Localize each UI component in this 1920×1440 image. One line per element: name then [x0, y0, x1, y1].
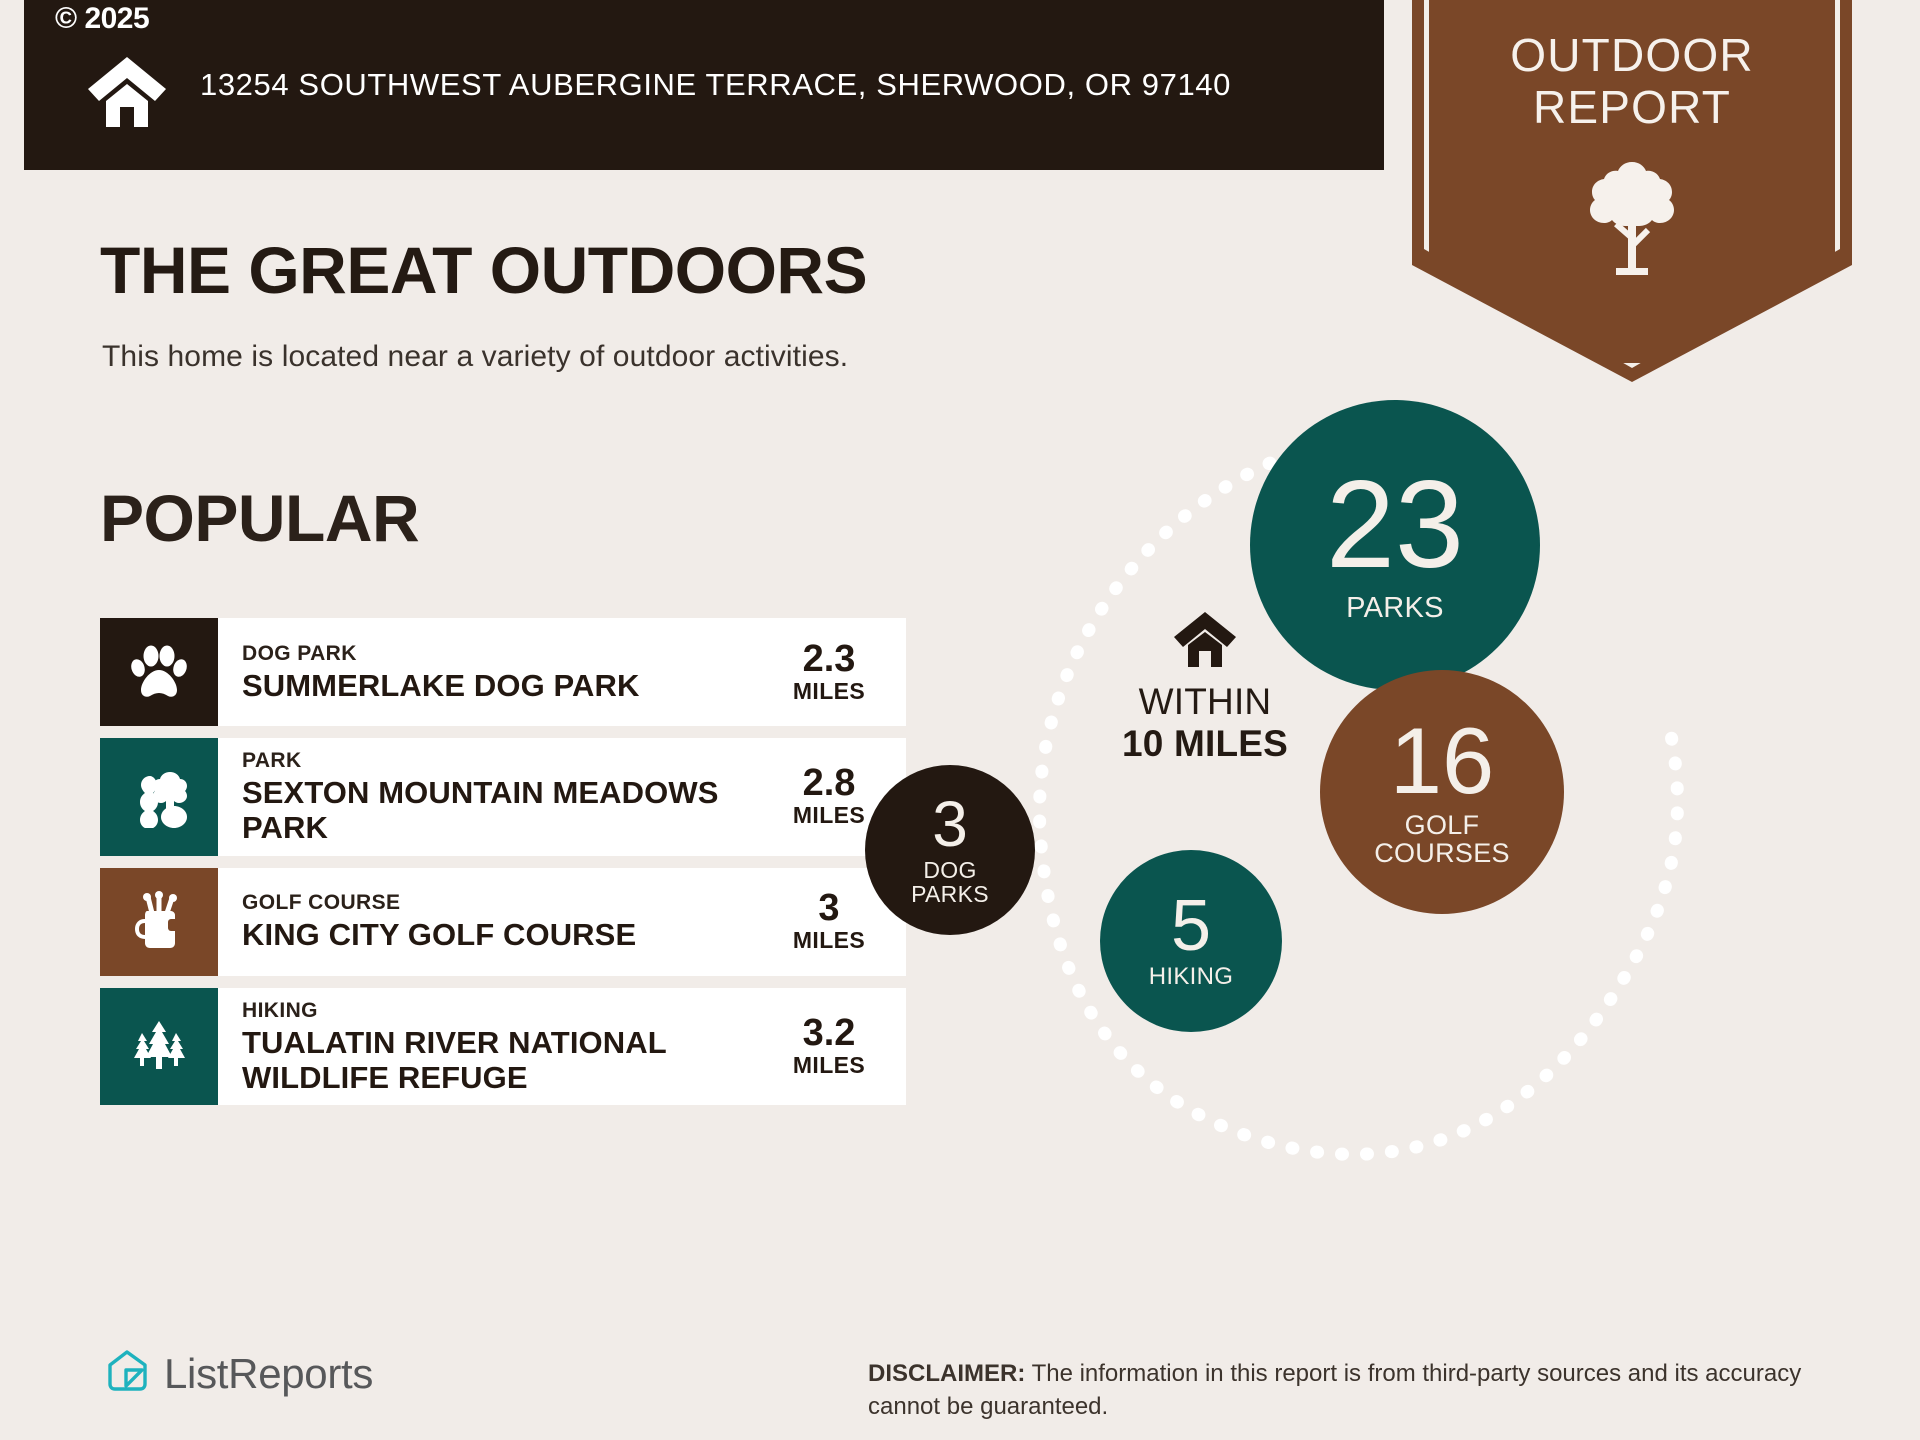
stat-circle-golf-courses[interactable]: 16 GOLF COURSES [1320, 670, 1564, 914]
list-item-body: GOLF COURSE KING CITY GOLF COURSE 3 MILE… [218, 868, 906, 976]
parks-count: 23 [1326, 467, 1464, 585]
list-item[interactable]: PARK SEXTON MOUNTAIN MEADOWS PARK 2.8 MI… [100, 738, 906, 856]
header-bar: 13254 SOUTHWEST AUBERGINE TERRACE, SHERW… [24, 0, 1384, 170]
section-title-popular: POPULAR [100, 480, 419, 556]
distance-value: 2.3 [770, 640, 888, 678]
list-item[interactable]: GOLF COURSE KING CITY GOLF COURSE 3 MILE… [100, 868, 906, 976]
list-item-body: DOG PARK SUMMERLAKE DOG PARK 2.3 MILES [218, 618, 906, 726]
list-item-name: TUALATIN RIVER NATIONAL WILDLIFE REFUGE [242, 1026, 770, 1095]
list-item-text: DOG PARK SUMMERLAKE DOG PARK [242, 641, 770, 704]
badge-title-line1: OUTDOOR [1412, 30, 1852, 82]
center-home-marker: WITHIN 10 MILES [1075, 610, 1335, 766]
list-item-category: PARK [242, 748, 770, 773]
amenities-bubble-chart: 23 PARKS 16 GOLF COURSES 5 HIKING 3 DOG … [1010, 400, 1840, 1270]
golf-label-line1: GOLF [1374, 811, 1510, 840]
list-item-category: GOLF COURSE [242, 890, 770, 915]
paw-icon [100, 618, 218, 726]
outdoor-report-badge: OUTDOOR REPORT [1412, 0, 1852, 382]
list-item[interactable]: HIKING TUALATIN RIVER NATIONAL WILDLIFE … [100, 988, 906, 1106]
distance-unit: MILES [770, 1052, 888, 1079]
pine-trees-icon [100, 988, 218, 1106]
golf-label-line2: COURSES [1374, 839, 1510, 868]
golf-label: GOLF COURSES [1374, 811, 1510, 868]
list-item-text: HIKING TUALATIN RIVER NATIONAL WILDLIFE … [242, 998, 770, 1096]
list-item-distance: 3.2 MILES [770, 1014, 902, 1079]
page-title: THE GREAT OUTDOORS [100, 232, 867, 308]
distance-unit: MILES [770, 927, 888, 954]
copyright-notice: © 2025 [55, 2, 149, 36]
list-item-text: GOLF COURSE KING CITY GOLF COURSE [242, 890, 770, 953]
dogparks-label: DOG PARKS [911, 858, 989, 907]
hiking-label: HIKING [1149, 964, 1233, 989]
list-item-name: SUMMERLAKE DOG PARK [242, 669, 770, 704]
parks-label: PARKS [1346, 593, 1444, 624]
list-item-body: PARK SEXTON MOUNTAIN MEADOWS PARK 2.8 MI… [218, 738, 906, 856]
distance-value: 2.8 [770, 764, 888, 802]
center-label-line1: WITHIN [1075, 681, 1335, 723]
property-address: 13254 SOUTHWEST AUBERGINE TERRACE, SHERW… [200, 63, 1231, 107]
listreports-logo[interactable]: ListReports [104, 1348, 373, 1399]
page-subtitle: This home is located near a variety of o… [102, 340, 848, 374]
badge-title: OUTDOOR REPORT [1412, 30, 1852, 134]
tree-icon [1586, 160, 1678, 276]
dogparks-label-line2: PARKS [911, 882, 989, 906]
hiking-count: 5 [1171, 892, 1211, 960]
disclaimer: DISCLAIMER: The information in this repo… [868, 1358, 1858, 1423]
list-item-name: KING CITY GOLF COURSE [242, 918, 770, 953]
home-icon [84, 53, 170, 131]
popular-list: DOG PARK SUMMERLAKE DOG PARK 2.3 MILES P… [100, 618, 906, 1117]
list-item-name: SEXTON MOUNTAIN MEADOWS PARK [242, 776, 770, 845]
distance-value: 3 [770, 889, 888, 927]
park-tree-path-icon [100, 738, 218, 856]
list-item-distance: 2.3 MILES [770, 640, 902, 705]
list-item-body: HIKING TUALATIN RIVER NATIONAL WILDLIFE … [218, 988, 906, 1106]
dogparks-count: 3 [932, 794, 968, 855]
disclaimer-label: DISCLAIMER: [868, 1360, 1025, 1387]
golf-bag-icon [100, 868, 218, 976]
home-icon [1172, 657, 1238, 674]
stat-circle-dog-parks[interactable]: 3 DOG PARKS [865, 765, 1035, 935]
dogparks-label-line1: DOG [911, 858, 989, 882]
center-label-line2: 10 MILES [1075, 723, 1335, 766]
list-item[interactable]: DOG PARK SUMMERLAKE DOG PARK 2.3 MILES [100, 618, 906, 726]
listreports-house-icon [104, 1348, 150, 1399]
badge-title-line2: REPORT [1412, 82, 1852, 134]
listreports-wordmark: ListReports [164, 1350, 373, 1398]
list-item-text: PARK SEXTON MOUNTAIN MEADOWS PARK [242, 748, 770, 846]
distance-unit: MILES [770, 678, 888, 705]
stat-circle-hiking[interactable]: 5 HIKING [1100, 850, 1282, 1032]
list-item-category: HIKING [242, 998, 770, 1023]
golf-count: 16 [1390, 716, 1495, 805]
list-item-category: DOG PARK [242, 641, 770, 666]
distance-value: 3.2 [770, 1014, 888, 1052]
